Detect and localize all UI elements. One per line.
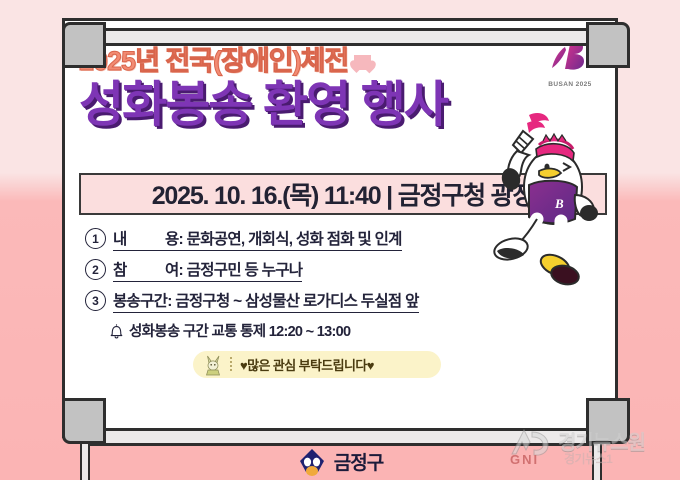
pill-divider <box>230 357 232 372</box>
traffic-notice: 성화봉송 구간 교통 통제 12:20 ~ 13:00 <box>85 320 555 341</box>
gu-logo-name: 금정구 <box>334 448 383 475</box>
pill-text: ♥많은 관심 부탁드립니다♥ <box>240 355 374 374</box>
list-text: 봉송구간: 금정구청 ~ 삼성물산 로가디스 두실점 앞 <box>113 289 419 313</box>
list-number: 1 <box>85 228 106 249</box>
busan-mascot-icon: B <box>481 109 609 289</box>
watermark-mark: GNI <box>510 452 539 467</box>
date-venue-text: 2025. 10. 16.(목) 11:40 | 금정구청 광장 <box>152 176 535 212</box>
list-number: 2 <box>85 259 106 280</box>
list-text: 참여: 금정구민 등 누구나 <box>113 258 302 282</box>
svg-text:B: B <box>554 196 564 211</box>
list-item: 3 봉송구간: 금정구청 ~ 삼성물산 로가디스 두실점 앞 <box>85 289 555 313</box>
frame-bracket-top-right <box>586 22 630 68</box>
bunny-icon <box>203 354 224 376</box>
event-poster: BUSAN 2025 2025년 전국(장애인)체전 성화봉송 환영 행사 20… <box>0 0 680 480</box>
watermark-korean-sub: 경기뉴스1 <box>564 450 612 467</box>
bell-icon <box>109 323 124 339</box>
list-number: 3 <box>85 290 106 311</box>
list-text: 내용: 문화공연, 개회식, 성화 점화 및 인계 <box>113 227 402 251</box>
poster-board-inner: BUSAN 2025 2025년 전국(장애인)체전 성화봉송 환영 행사 20… <box>65 21 615 435</box>
interest-request-pill: ♥많은 관심 부탁드립니다♥ <box>193 351 441 378</box>
frame-bracket-top-left <box>62 22 106 68</box>
watermark: GNI 경기뉴스원 경기뉴스1 <box>506 424 676 476</box>
frame-bracket-bottom-left <box>62 398 106 444</box>
traffic-notice-text: 성화봉송 구간 교통 통제 12:20 ~ 13:00 <box>129 320 350 341</box>
poster-board: BUSAN 2025 2025년 전국(장애인)체전 성화봉송 환영 행사 20… <box>62 18 618 438</box>
geumjeong-gu-emblem-icon <box>297 446 327 476</box>
heart-icon <box>354 55 371 70</box>
frame-rail-top <box>88 28 592 46</box>
